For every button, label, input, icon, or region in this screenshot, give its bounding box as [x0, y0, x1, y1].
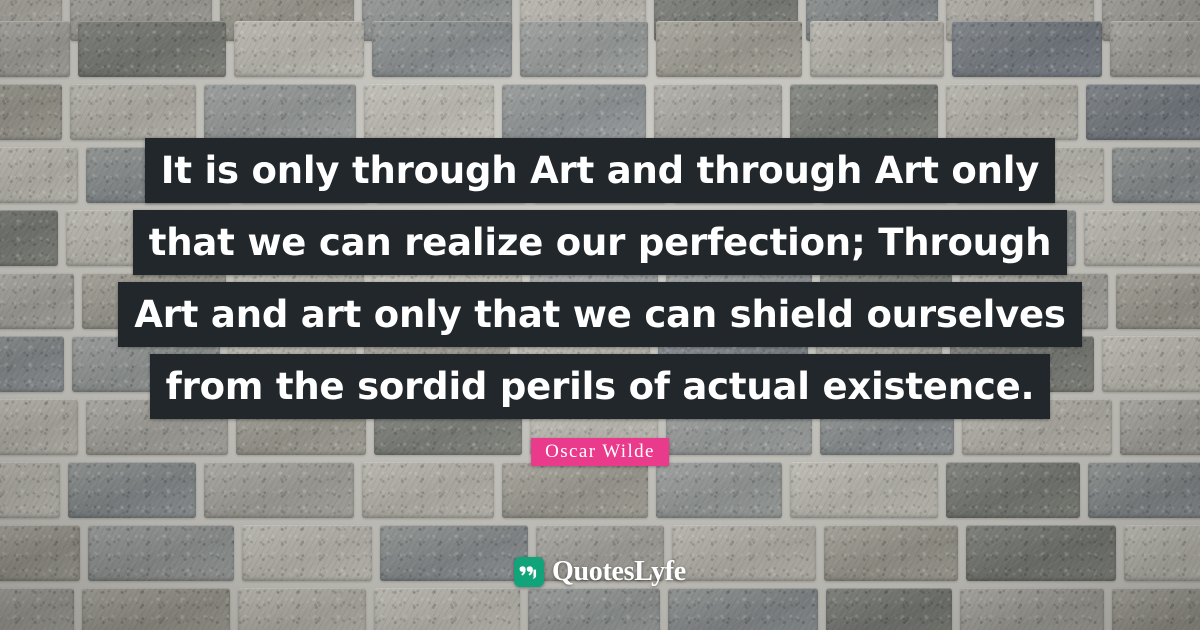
- brick: [362, 462, 494, 518]
- brick-row: [0, 18, 1200, 81]
- brand-logo[interactable]: QuotesLyfe: [514, 556, 686, 588]
- brick: [372, 21, 512, 77]
- brick: [1124, 525, 1200, 581]
- brick: [242, 525, 372, 581]
- brick: [946, 462, 1080, 518]
- brick: [1110, 21, 1200, 77]
- brick: [654, 84, 782, 140]
- brick: [0, 462, 60, 518]
- brick-row: [0, 81, 1200, 144]
- brick: [946, 84, 1078, 140]
- brick: [68, 462, 196, 518]
- brick: [826, 588, 952, 630]
- brick: [952, 21, 1102, 77]
- brick: [656, 462, 782, 518]
- brick: [1112, 588, 1200, 630]
- quote-line: It is only through Art and through Art o…: [145, 138, 1055, 203]
- brand-wordmark: QuotesLyfe: [552, 556, 686, 588]
- brick: [960, 588, 1104, 630]
- brick: [238, 588, 366, 630]
- brick: [1086, 84, 1200, 140]
- brick: [0, 588, 74, 630]
- brick: [364, 84, 494, 140]
- brick: [1088, 462, 1200, 518]
- brick: [824, 525, 958, 581]
- brick: [672, 525, 816, 581]
- brick: [78, 21, 226, 77]
- quote-card: It is only through Art and through Art o…: [0, 0, 1200, 630]
- brick: [0, 21, 70, 77]
- brick: [502, 462, 648, 518]
- brick: [380, 525, 528, 581]
- quote-text-block: It is only through Art and through Art o…: [0, 138, 1200, 419]
- brick-row: [0, 585, 1200, 630]
- brick: [502, 84, 646, 140]
- brick: [790, 84, 938, 140]
- quote-line: Art and art only that we can shield ours…: [118, 282, 1081, 347]
- quote-line: from the sordid perils of actual existen…: [150, 354, 1051, 419]
- author-badge: Oscar Wilde: [531, 438, 669, 466]
- brick: [82, 588, 230, 630]
- brick: [204, 462, 354, 518]
- brick: [234, 21, 364, 77]
- brick: [656, 21, 802, 77]
- brick: [810, 21, 944, 77]
- brick: [790, 462, 938, 518]
- brick: [668, 588, 818, 630]
- brick: [966, 525, 1116, 581]
- brick: [0, 525, 80, 581]
- brick: [528, 588, 660, 630]
- brick: [520, 21, 648, 77]
- brick: [0, 84, 62, 140]
- brick-row: [0, 459, 1200, 522]
- quote-line: that we can realize our perfection; Thro…: [133, 210, 1068, 275]
- brick: [70, 84, 196, 140]
- brick: [204, 84, 356, 140]
- brick: [88, 525, 234, 581]
- quote-mark-icon: [514, 557, 544, 587]
- brick: [374, 588, 520, 630]
